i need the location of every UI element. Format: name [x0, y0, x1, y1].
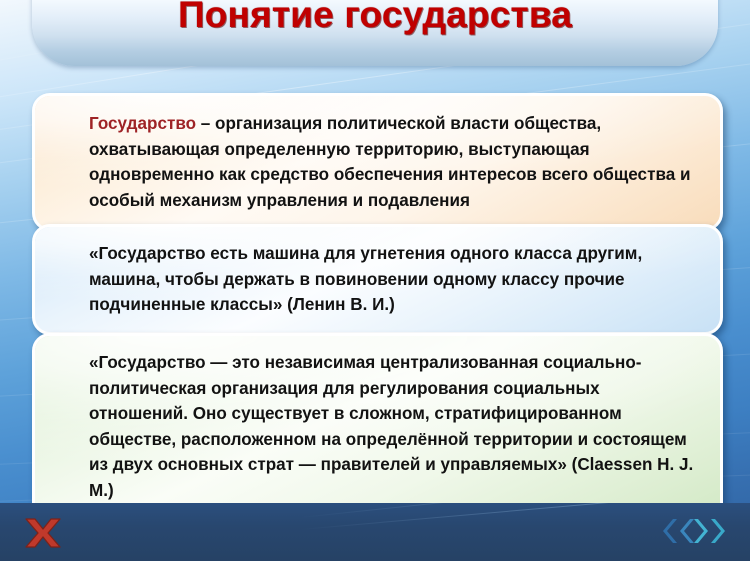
title-banner: Понятие государства	[32, 0, 718, 66]
definition-card: Государство – организация политической в…	[32, 93, 723, 231]
definition-term: Государство	[89, 114, 196, 133]
definition-card-text: Государство – организация политической в…	[35, 96, 720, 228]
page-title: Понятие государства	[32, 0, 718, 36]
chevron-right-outer-icon[interactable]	[711, 517, 728, 545]
lenin-quote-text: «Государство есть машина для угнетения о…	[35, 227, 720, 332]
slide-canvas: Понятие государства Государство – органи…	[0, 0, 750, 561]
claessen-quote-text: «Государство — это независимая централиз…	[35, 336, 720, 518]
chevron-left-inner-icon[interactable]	[677, 517, 694, 545]
lenin-quote-card: «Государство есть машина для угнетения о…	[32, 224, 723, 335]
chevron-left-outer-icon[interactable]	[660, 517, 677, 545]
claessen-quote-card: «Государство — это независимая централиз…	[32, 333, 723, 521]
chevron-right-inner-icon[interactable]	[694, 517, 711, 545]
x-logo-icon	[24, 517, 62, 549]
navigation-arrows[interactable]	[660, 517, 728, 545]
